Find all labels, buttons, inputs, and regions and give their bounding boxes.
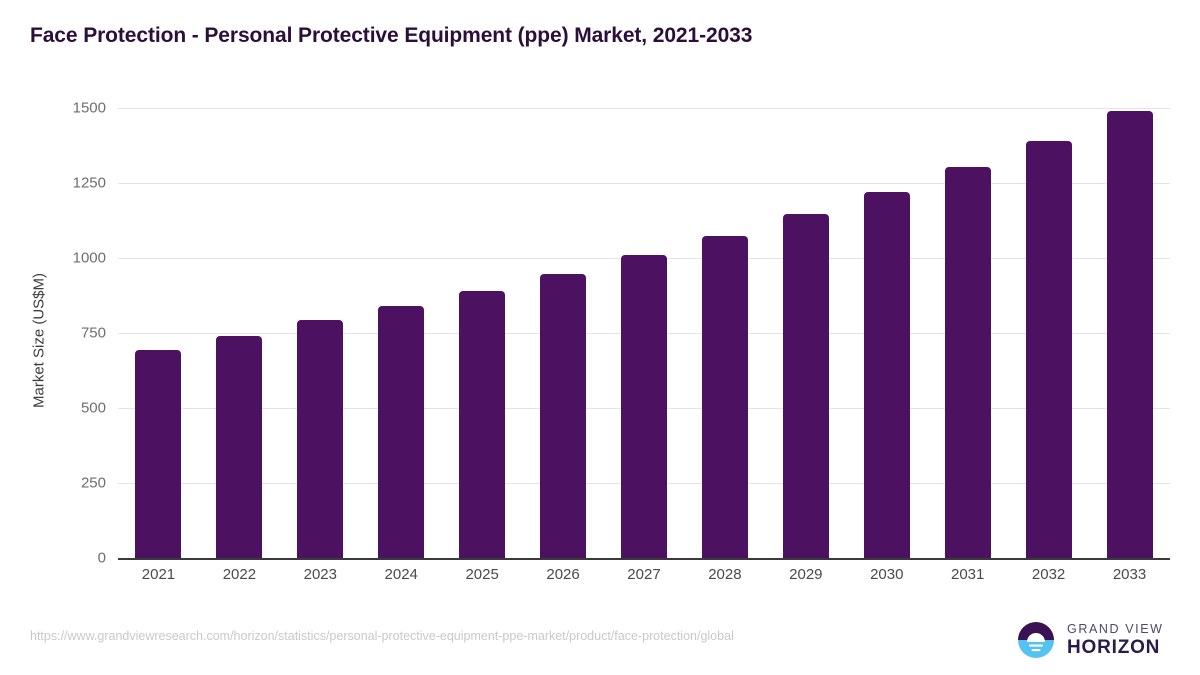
bar[interactable] (783, 214, 829, 558)
logo-line-1: GRAND VIEW (1067, 623, 1164, 636)
x-axis-line (118, 558, 1170, 560)
bar[interactable] (864, 192, 910, 558)
bar[interactable] (945, 167, 991, 558)
chart-canvas: Face Protection - Personal Protective Eq… (0, 0, 1200, 675)
y-tick-label: 500 (16, 400, 106, 417)
bar-group: 2022 (199, 108, 280, 558)
x-tick-label: 2032 (1032, 566, 1065, 583)
x-tick-label: 2022 (223, 566, 256, 583)
bar-group: 2031 (927, 108, 1008, 558)
y-tick-label: 250 (16, 475, 106, 492)
bar-group: 2027 (604, 108, 685, 558)
brand-logo: GRAND VIEW HORIZON (1014, 617, 1170, 663)
bar-group: 2026 (523, 108, 604, 558)
bar-group: 2032 (1008, 108, 1089, 558)
bar[interactable] (621, 255, 667, 558)
x-tick-label: 2028 (708, 566, 741, 583)
bar-group: 2021 (118, 108, 199, 558)
x-tick-label: 2025 (465, 566, 498, 583)
bar-group: 2028 (684, 108, 765, 558)
bar[interactable] (378, 306, 424, 558)
bar-series: 2021202220232024202520262027202820292030… (118, 108, 1170, 558)
y-tick-label: 1000 (16, 250, 106, 267)
bar[interactable] (1107, 111, 1153, 558)
bar-group: 2033 (1089, 108, 1170, 558)
x-tick-label: 2023 (304, 566, 337, 583)
x-tick-label: 2030 (870, 566, 903, 583)
bar[interactable] (135, 350, 181, 559)
plot-area: 0250500750100012501500 20212022202320242… (118, 108, 1170, 558)
bar-group: 2024 (361, 108, 442, 558)
bar[interactable] (540, 274, 586, 558)
y-tick-label: 1250 (16, 175, 106, 192)
page-title: Face Protection - Personal Protective Eq… (30, 24, 752, 48)
bar[interactable] (297, 320, 343, 558)
y-tick-label: 750 (16, 325, 106, 342)
x-tick-label: 2024 (385, 566, 418, 583)
bar-group: 2023 (280, 108, 361, 558)
logo-line-2: HORIZON (1067, 638, 1164, 657)
bar-group: 2029 (765, 108, 846, 558)
x-tick-label: 2026 (546, 566, 579, 583)
bar[interactable] (702, 236, 748, 558)
bar[interactable] (1026, 141, 1072, 558)
x-tick-label: 2027 (627, 566, 660, 583)
bar-group: 2030 (846, 108, 927, 558)
x-tick-label: 2033 (1113, 566, 1146, 583)
x-tick-label: 2029 (789, 566, 822, 583)
horizon-sunrise-logo-icon (1014, 618, 1058, 662)
logo-wordmark: GRAND VIEW HORIZON (1067, 623, 1164, 658)
x-tick-label: 2031 (951, 566, 984, 583)
source-url[interactable]: https://www.grandviewresearch.com/horizo… (30, 629, 734, 643)
bar-group: 2025 (442, 108, 523, 558)
bar[interactable] (459, 291, 505, 558)
bar[interactable] (216, 336, 262, 558)
y-tick-label: 0 (16, 550, 106, 567)
y-tick-label: 1500 (16, 100, 106, 117)
x-tick-label: 2021 (142, 566, 175, 583)
